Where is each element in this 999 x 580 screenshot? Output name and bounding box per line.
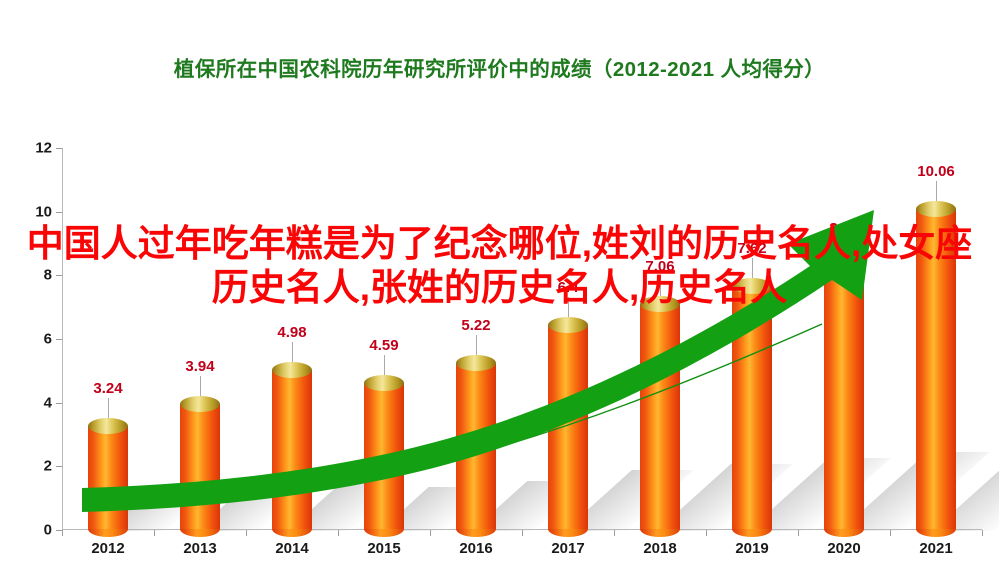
x-axis-tick-label: 2020 <box>827 540 860 557</box>
bar-top-ellipse <box>180 396 220 412</box>
x-axis-tick-label: 2015 <box>367 540 400 557</box>
bar-2016[interactable]: 5.22 <box>456 363 496 529</box>
bar-body <box>272 370 312 529</box>
bar-top-ellipse <box>916 201 956 217</box>
bar-top-ellipse <box>456 355 496 371</box>
bar-2017[interactable]: 6.4 <box>548 325 588 529</box>
y-axis-tick <box>56 466 62 467</box>
y-axis-tick-label: 12 <box>35 140 52 157</box>
bar-body <box>456 363 496 529</box>
data-label-leader-line <box>936 181 937 201</box>
y-axis-tick-label: 0 <box>44 522 52 539</box>
bar-2012[interactable]: 3.24 <box>88 426 128 529</box>
bar-body <box>640 304 680 529</box>
bar-data-label: 10.06 <box>917 163 955 180</box>
x-axis-tick-label: 2017 <box>551 540 584 557</box>
bar-top-ellipse <box>88 418 128 434</box>
bar-body <box>180 404 220 529</box>
bar-data-label: 4.59 <box>369 337 398 354</box>
bar-data-label: 3.94 <box>185 358 214 375</box>
data-label-leader-line <box>200 376 201 396</box>
data-label-leader-line <box>292 342 293 362</box>
plot-area: 024681012 201220132014201520162017201820… <box>62 148 982 530</box>
x-axis-tick-label: 2021 <box>919 540 952 557</box>
x-axis-tick <box>338 530 339 536</box>
chart-title: 植保所在中国农科院历年研究所评价中的成绩（2012-2021 人均得分） <box>0 52 999 82</box>
bar-body <box>548 325 588 529</box>
x-axis-tick-label: 2016 <box>459 540 492 557</box>
y-axis-tick <box>56 148 62 149</box>
y-axis-line <box>62 148 63 530</box>
x-axis-tick <box>62 530 63 536</box>
x-axis-tick-label: 2018 <box>643 540 676 557</box>
x-axis-tick <box>890 530 891 536</box>
x-axis-tick-label: 2019 <box>735 540 768 557</box>
y-axis-tick-label: 4 <box>44 394 52 411</box>
y-axis-tick <box>56 403 62 404</box>
y-axis-tick <box>56 339 62 340</box>
y-axis-tick-label: 2 <box>44 458 52 475</box>
bar-data-label: 3.24 <box>93 380 122 397</box>
watermark-text: 中国人过年吃年糕是为了纪念哪位,姓刘的历史名人,处女座历史名人,张姓的历史名人,… <box>0 222 999 310</box>
bar-2014[interactable]: 4.98 <box>272 370 312 529</box>
data-label-leader-line <box>476 335 477 355</box>
y-axis-tick <box>56 212 62 213</box>
x-axis-tick <box>246 530 247 536</box>
y-axis-tick-label: 10 <box>35 203 52 220</box>
y-axis-tick-label: 6 <box>44 331 52 348</box>
bar-data-label: 5.22 <box>461 317 490 334</box>
x-axis-tick-label: 2014 <box>275 540 308 557</box>
data-label-leader-line <box>384 355 385 375</box>
data-label-leader-line <box>108 398 109 418</box>
x-axis-tick-label: 2013 <box>183 540 216 557</box>
bar-top-ellipse <box>364 375 404 391</box>
bar-2018[interactable]: 7.06 <box>640 304 680 529</box>
x-axis-tick-label: 2012 <box>91 540 124 557</box>
bar-2015[interactable]: 4.59 <box>364 383 404 529</box>
chart-canvas: 植保所在中国农科院历年研究所评价中的成绩（2012-2021 人均得分） 024… <box>0 0 999 580</box>
x-axis-tick <box>522 530 523 536</box>
bar-body <box>732 286 772 529</box>
bar-body <box>364 383 404 529</box>
x-axis-tick <box>430 530 431 536</box>
bar-2019[interactable]: 7.62 <box>732 286 772 529</box>
x-axis-tick <box>798 530 799 536</box>
bar-2013[interactable]: 3.94 <box>180 404 220 529</box>
bar-data-label: 4.98 <box>277 324 306 341</box>
bar-body <box>88 426 128 529</box>
